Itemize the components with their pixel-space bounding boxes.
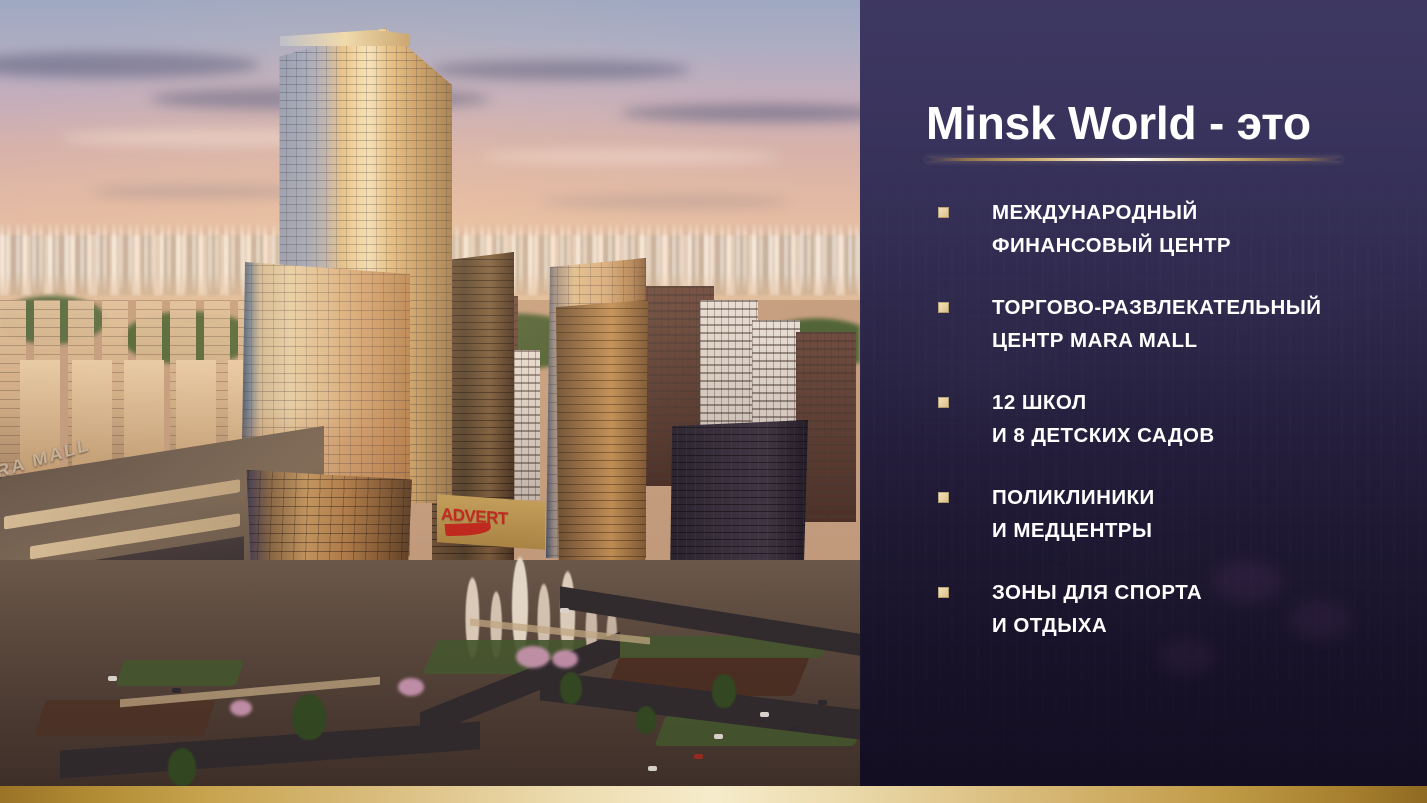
lawn	[116, 660, 244, 686]
blossom-tree	[230, 700, 252, 716]
bullet-square-icon	[938, 302, 949, 313]
car	[790, 726, 799, 731]
car	[760, 712, 769, 717]
car	[560, 608, 569, 613]
tree	[560, 672, 582, 704]
bullet-square-icon	[938, 492, 949, 503]
feature-list: МЕЖДУНАРОДНЫЙ ФИНАНСОВЫЙ ЦЕНТР ТОРГОВО-Р…	[926, 196, 1406, 671]
cloud-shape	[480, 150, 780, 164]
feature-label: ТОРГОВО-РАЗВЛЕКАТЕЛЬНЫЙ ЦЕНТР MARA MALL	[992, 291, 1406, 357]
list-item: МЕЖДУНАРОДНЫЙ ФИНАНСОВЫЙ ЦЕНТР	[926, 196, 1406, 262]
fountain	[452, 520, 622, 660]
list-item: ЗОНЫ ДЛЯ СПОРТА И ОТДЫХА	[926, 576, 1406, 642]
bottom-gold-bar	[0, 786, 1427, 803]
tree	[712, 674, 736, 708]
title-divider	[926, 158, 1342, 161]
bullet-square-icon	[938, 207, 949, 218]
bullet-square-icon	[938, 587, 949, 598]
feature-label: ЗОНЫ ДЛЯ СПОРТА И ОТДЫХА	[992, 576, 1406, 642]
car	[648, 766, 657, 771]
feature-label: ПОЛИКЛИНИКИ И МЕДЦЕНТРЫ	[992, 481, 1406, 547]
feature-label: 12 ШКОЛ И 8 ДЕТСКИХ САДОВ	[992, 386, 1406, 452]
car	[108, 676, 117, 681]
blossom-tree	[552, 650, 578, 668]
tree	[168, 748, 196, 786]
tree	[292, 694, 326, 740]
info-panel: Minsk World - это МЕЖДУНАРОДНЫЙ ФИНАНСОВ…	[860, 0, 1427, 803]
car	[714, 734, 723, 739]
presentation-slide: RA MALL ADVERT	[0, 0, 1427, 803]
cloud-shape	[540, 196, 790, 208]
car	[694, 754, 703, 759]
list-item: ТОРГОВО-РАЗВЛЕКАТЕЛЬНЫЙ ЦЕНТР MARA MALL	[926, 291, 1406, 357]
tree	[636, 706, 656, 734]
car	[172, 688, 181, 693]
cloud-shape	[430, 60, 690, 80]
list-item: 12 ШКОЛ И 8 ДЕТСКИХ САДОВ	[926, 386, 1406, 452]
car	[818, 700, 827, 705]
list-item: ПОЛИКЛИНИКИ И МЕДЦЕНТРЫ	[926, 481, 1406, 547]
feature-label: МЕЖДУНАРОДНЫЙ ФИНАНСОВЫЙ ЦЕНТР	[992, 196, 1406, 262]
slide-title: Minsk World - это	[926, 96, 1311, 150]
blossom-tree	[398, 678, 424, 696]
bullet-square-icon	[938, 397, 949, 408]
minsk-world-render-photo: RA MALL ADVERT	[0, 0, 860, 803]
blossom-tree	[516, 646, 550, 668]
